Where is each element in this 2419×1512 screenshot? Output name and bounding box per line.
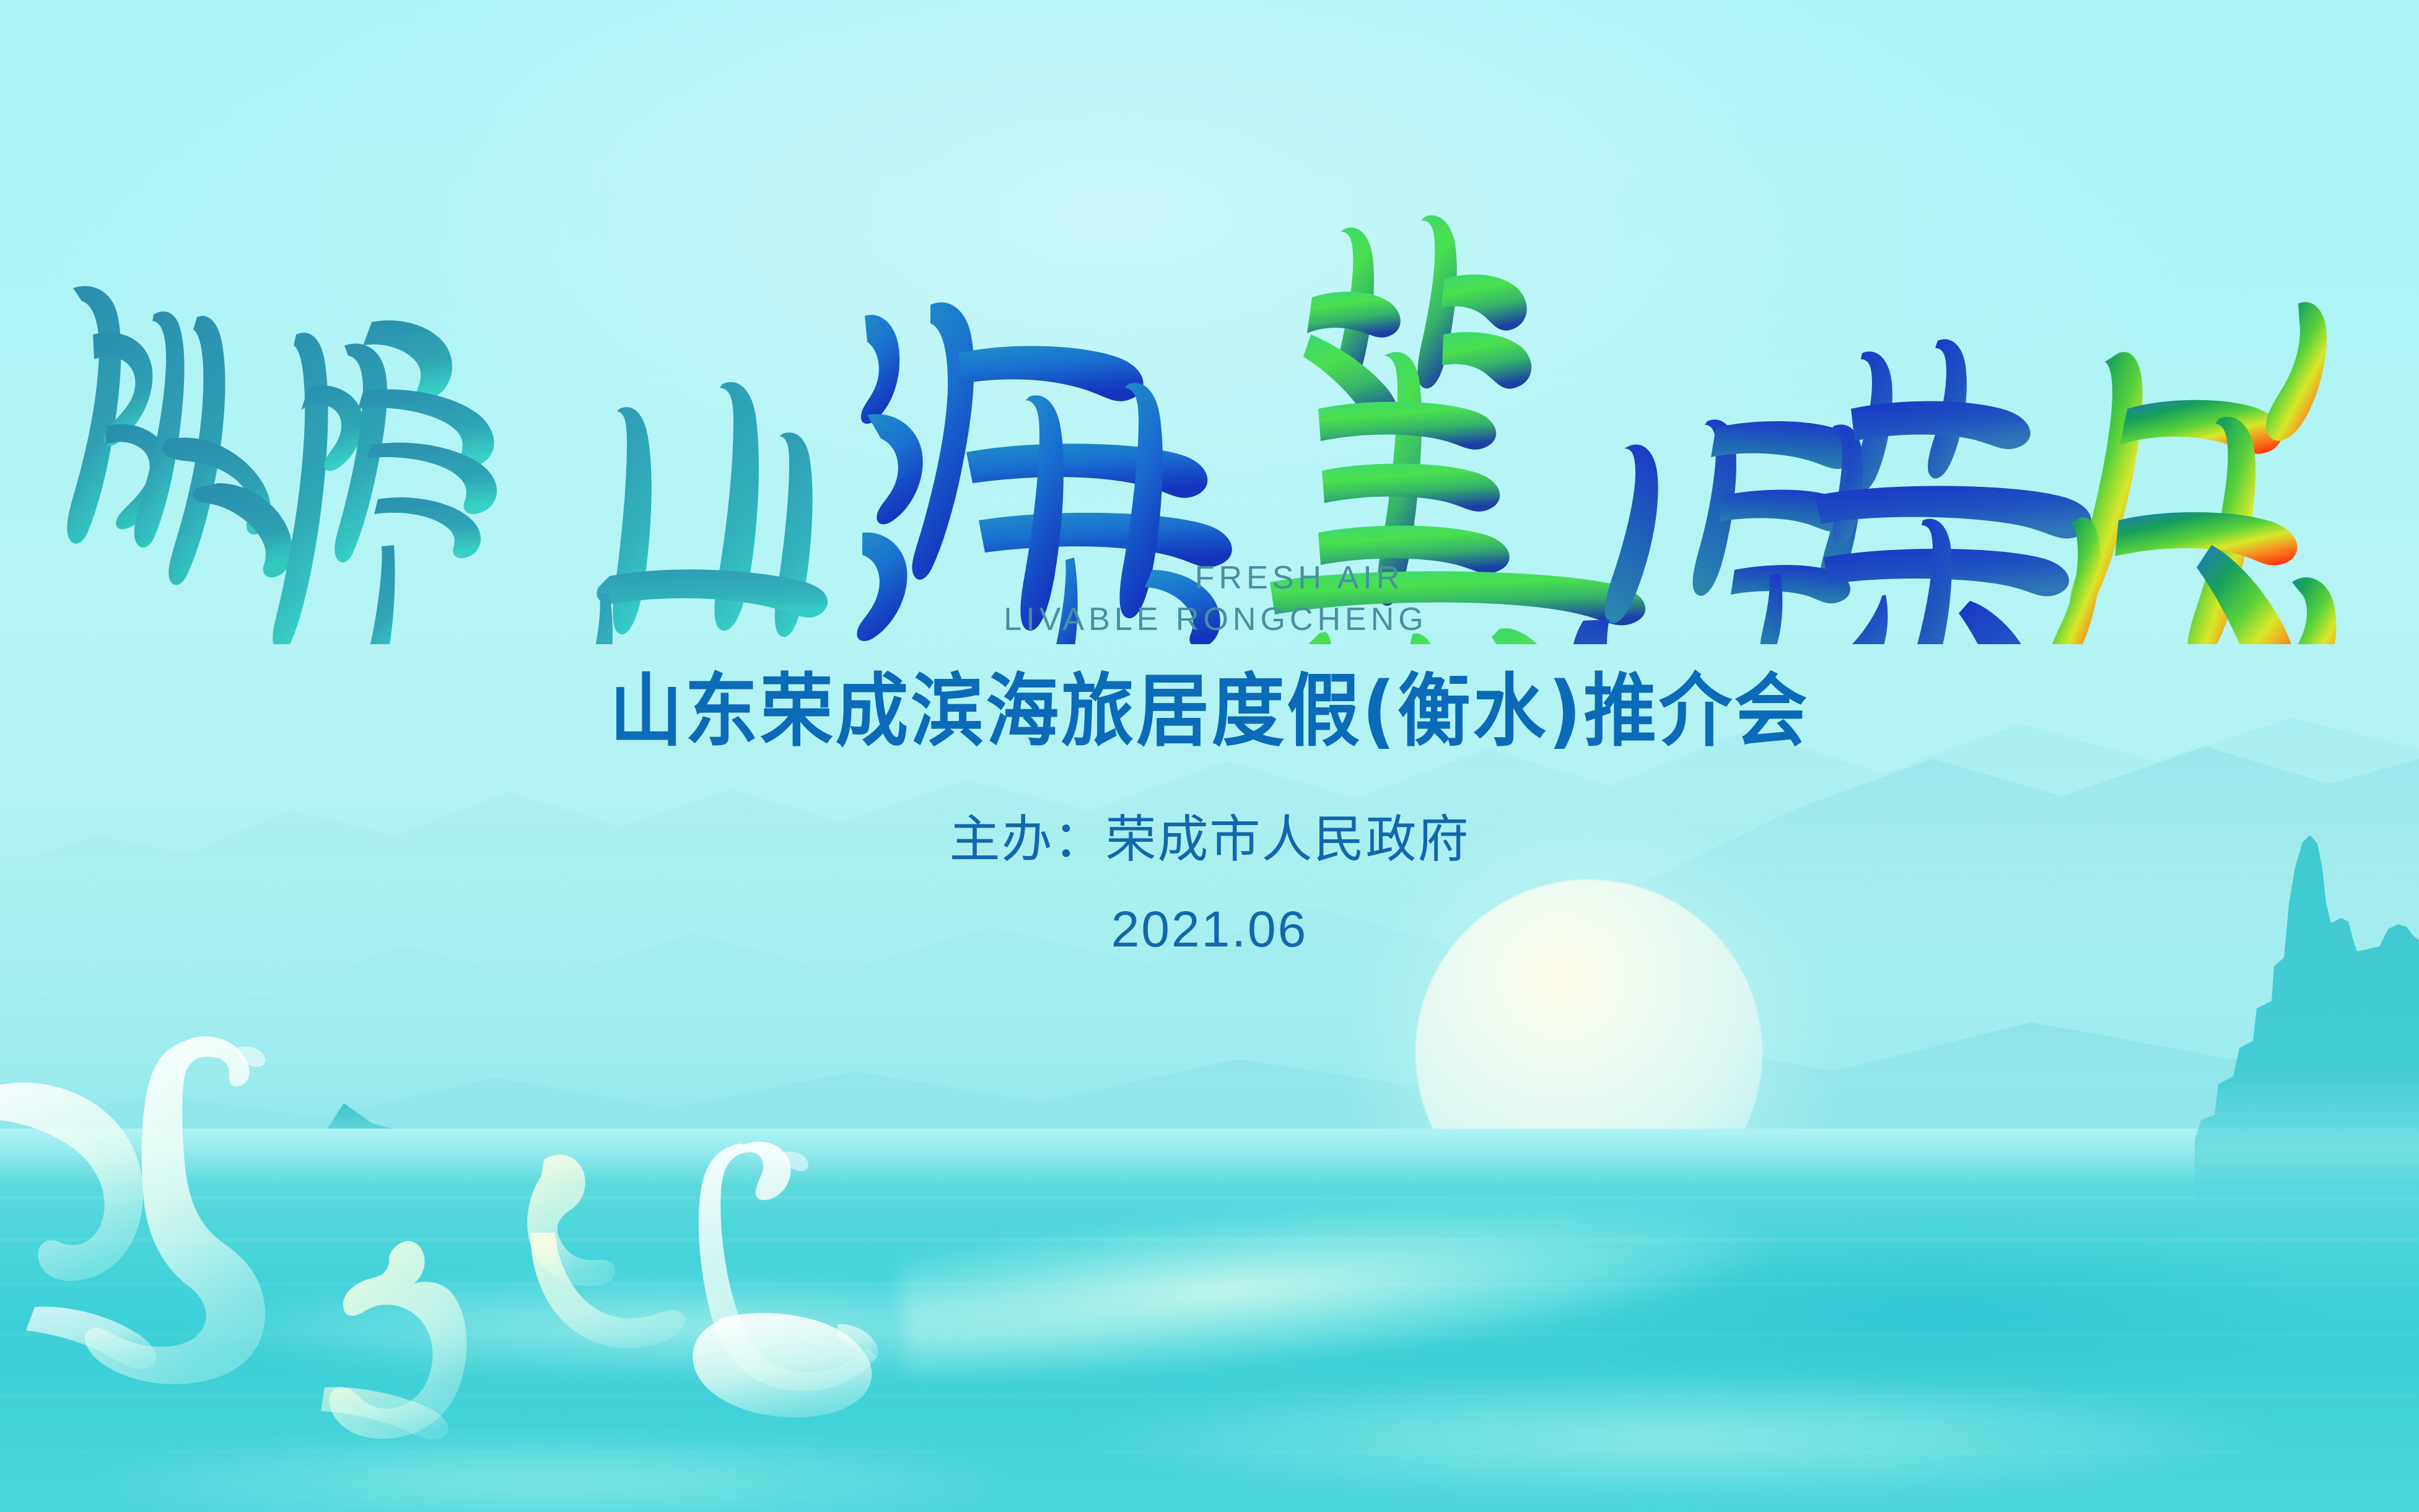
sea-wave-highlight-4 <box>0 1420 1301 1512</box>
event-subtitle: 山东荣成滨海旅居度假(衡水)推介会 <box>97 672 2322 751</box>
sea-wave-highlight-1 <box>893 1129 2419 1403</box>
organizer-line: 主办：荣成市人民政府 <box>0 815 2419 865</box>
sea <box>0 1129 2419 1512</box>
english-line-2: LIVABLE RONGCHENG <box>12 599 2419 640</box>
sea-wave-highlight-3 <box>1053 1358 2419 1512</box>
calligraphy-char-zong <box>67 286 292 585</box>
sea-wave-highlight-2 <box>0 1256 1363 1398</box>
poster-canvas: FRESH AIR LIVABLE RONGCHENG 山东荣成滨海旅居度假(衡… <box>0 0 2419 1512</box>
english-line-1: FRESH AIR <box>180 557 2419 599</box>
sea-shadow <box>1549 1203 2419 1407</box>
event-date: 2021.06 <box>0 904 2419 955</box>
english-tagline: FRESH AIR LIVABLE RONGCHENG <box>0 557 2419 640</box>
